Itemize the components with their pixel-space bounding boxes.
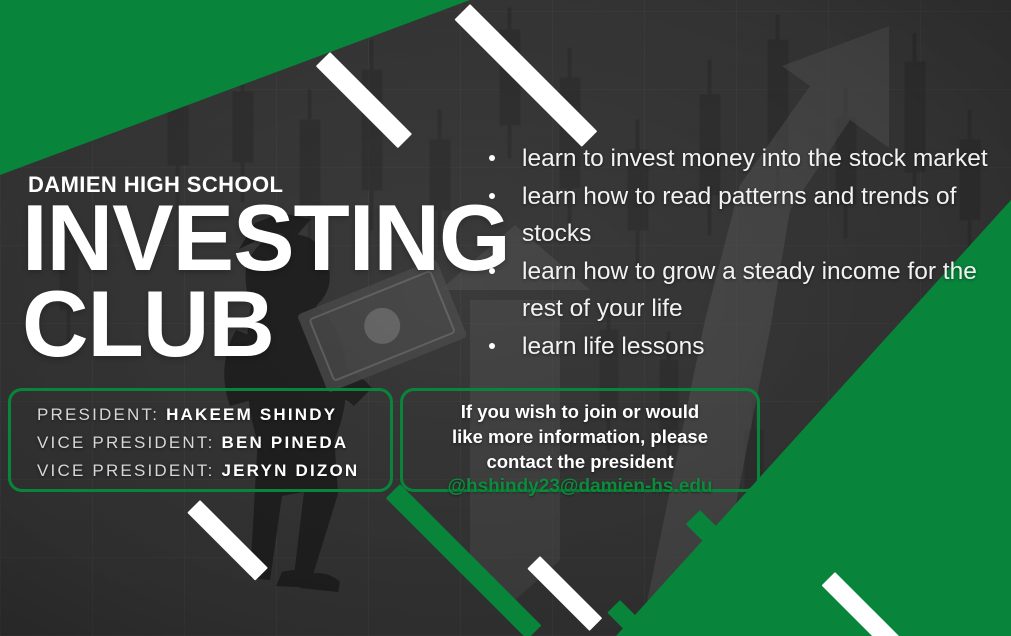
officer-role: VICE PRESIDENT:	[37, 461, 215, 480]
officer-role: VICE PRESIDENT:	[37, 433, 215, 452]
officer-role: PRESIDENT:	[37, 405, 159, 424]
officer-row: VICE PRESIDENT: JERYN DIZON	[37, 457, 390, 485]
officer-row: VICE PRESIDENT: BEN PINEDA	[37, 429, 390, 457]
contact-email-link[interactable]: @hshindy23@damien-hs.edu	[419, 474, 741, 499]
officer-name: JERYN DIZON	[221, 461, 359, 480]
bullet-dot-icon	[489, 155, 495, 161]
benefit-item: learn how to read patterns and trends of…	[482, 178, 1002, 253]
bullet-dot-icon	[489, 343, 495, 349]
bullet-dot-icon	[489, 268, 495, 274]
bullet-dot-icon	[489, 193, 495, 199]
officer-name: HAKEEM SHINDY	[166, 405, 337, 424]
page-title: INVESTING CLUB	[22, 195, 510, 368]
contact-line-1: If you wish to join or would	[419, 399, 741, 424]
officer-row: PRESIDENT: HAKEEM SHINDY	[37, 401, 390, 429]
benefit-item-label: learn how to read patterns and trends of…	[522, 183, 956, 248]
benefit-item-label: learn how to grow a steady income for th…	[522, 258, 977, 323]
officer-name: BEN PINEDA	[221, 433, 348, 452]
contact-line-3: contact the president	[419, 449, 741, 474]
benefit-item-label: learn life lessons	[522, 333, 704, 360]
contact-line-2: like more information, please	[419, 424, 741, 449]
poster-content: DAMIEN HIGH SCHOOL INVESTING CLUB learn …	[0, 0, 1011, 636]
benefit-item-label: learn to invest money into the stock mar…	[522, 145, 988, 172]
benefits-list: learn to invest money into the stock mar…	[482, 140, 1002, 365]
title-line-2: CLUB	[22, 281, 510, 367]
poster-canvas: DAMIEN HIGH SCHOOL INVESTING CLUB learn …	[0, 0, 1011, 636]
benefit-item: learn life lessons	[482, 328, 1002, 366]
benefit-item: learn how to grow a steady income for th…	[482, 253, 1002, 328]
contact-card: If you wish to join or would like more i…	[400, 388, 760, 492]
benefit-item: learn to invest money into the stock mar…	[482, 140, 1002, 178]
officers-card: PRESIDENT: HAKEEM SHINDYVICE PRESIDENT: …	[8, 388, 393, 492]
